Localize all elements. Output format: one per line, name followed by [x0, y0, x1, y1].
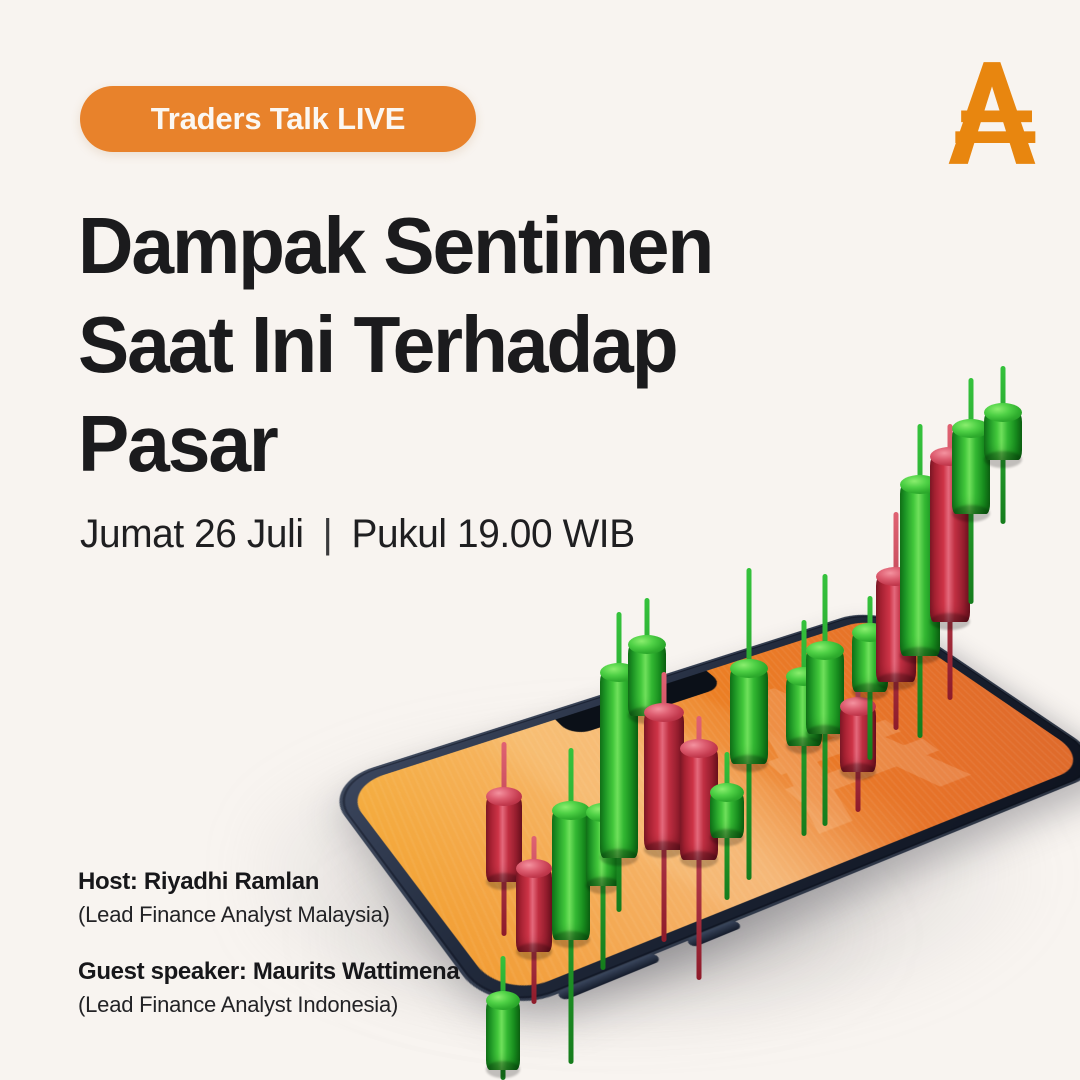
speaker-credits: Host: Riyadhi Ramlan (Lead Finance Analy…: [78, 866, 459, 1020]
candle-4-up: [552, 748, 590, 1064]
candle-wick: [823, 574, 828, 826]
candle-body: [486, 1000, 520, 1070]
candle-body: [486, 796, 522, 882]
candle-10-up: [710, 752, 744, 900]
candle-12-up: [786, 620, 822, 836]
candle-body: [516, 868, 552, 952]
candle-3-down: [516, 836, 552, 1004]
candle-body: [644, 712, 684, 850]
schedule-separator: |: [314, 512, 341, 557]
candle-body: [586, 812, 620, 886]
candle-wick: [948, 424, 953, 700]
candle-wick: [569, 748, 574, 1064]
candle-wick: [502, 742, 507, 936]
phone-volume-button: [556, 953, 661, 1001]
candle-wick: [856, 652, 861, 812]
brand-a-logo-icon: [942, 58, 1042, 168]
page-title: Dampak Sentimen Saat Ini Terhadap Pasar: [78, 196, 769, 493]
candle-wick: [697, 716, 702, 980]
host-name: Host: Riyadhi Ramlan: [78, 866, 459, 898]
candle-wick: [802, 620, 807, 836]
candle-18-down: [930, 424, 970, 700]
candle-body: [730, 668, 768, 764]
candle-body: [930, 456, 970, 622]
schedule-line: Jumat 26 Juli | Pukul 19.00 WIB: [80, 512, 635, 557]
candle-body: [600, 672, 638, 858]
candle-wick: [918, 424, 923, 738]
candle-wick: [501, 956, 506, 1080]
candle-7-up: [628, 598, 666, 806]
candle-body: [628, 644, 666, 716]
candle-body: [984, 412, 1022, 460]
candle-20-up: [984, 366, 1022, 524]
credits-spacer: [78, 930, 459, 956]
phone-notch: [555, 671, 725, 737]
candle-wick: [1001, 366, 1006, 524]
candle-1-up: [486, 956, 520, 1080]
candle-wick: [601, 766, 606, 970]
candle-13-up: [806, 574, 844, 826]
candle-17-up: [900, 424, 940, 738]
candle-9-down: [680, 716, 718, 980]
candle-11-up: [730, 568, 768, 880]
guest-role: (Lead Finance Analyst Indonesia): [78, 989, 459, 1020]
candle-wick: [617, 612, 622, 912]
guest-name: Guest speaker: Maurits Wattimena: [78, 956, 459, 988]
candle-body: [876, 576, 916, 682]
candle-body: [952, 428, 990, 514]
screen-glare-secondary: [450, 666, 920, 957]
candle-15-up: [852, 596, 888, 760]
candle-body: [552, 810, 590, 940]
candle-wick: [725, 752, 730, 900]
candle-body: [786, 676, 822, 746]
candle-body: [840, 706, 876, 772]
candle-body: [680, 748, 718, 860]
candle-body: [852, 632, 888, 692]
candle-2-down: [486, 742, 522, 936]
live-badge[interactable]: Traders Talk LIVE: [80, 86, 476, 152]
candle-8-down: [644, 672, 684, 942]
candle-16-down: [876, 512, 916, 730]
candle-6-up: [600, 612, 638, 912]
candle-body: [900, 484, 940, 656]
screen-watermark-a-logo-icon: [605, 642, 1049, 872]
live-badge-label: Traders Talk LIVE: [151, 101, 405, 137]
candle-wick: [894, 512, 899, 730]
candle-wick: [747, 568, 752, 880]
candle-19-up: [952, 378, 990, 604]
candle-wick: [532, 836, 537, 1004]
candle-wick: [969, 378, 974, 604]
schedule-date: Jumat 26 Juli: [80, 512, 304, 556]
phone-mute-switch: [685, 920, 742, 948]
candle-body: [806, 650, 844, 734]
candle-5-up: [586, 766, 620, 970]
candle-wick: [662, 672, 667, 942]
candle-body: [710, 792, 744, 838]
candle-14-down: [840, 652, 876, 812]
candle-wick: [645, 598, 650, 806]
host-role: (Lead Finance Analyst Malaysia): [78, 899, 459, 930]
candle-wick: [868, 596, 873, 760]
poster-canvas: Traders Talk LIVE Dampak Sentimen Saat I…: [0, 0, 1080, 1080]
schedule-time: Pukul 19.00 WIB: [352, 512, 635, 556]
